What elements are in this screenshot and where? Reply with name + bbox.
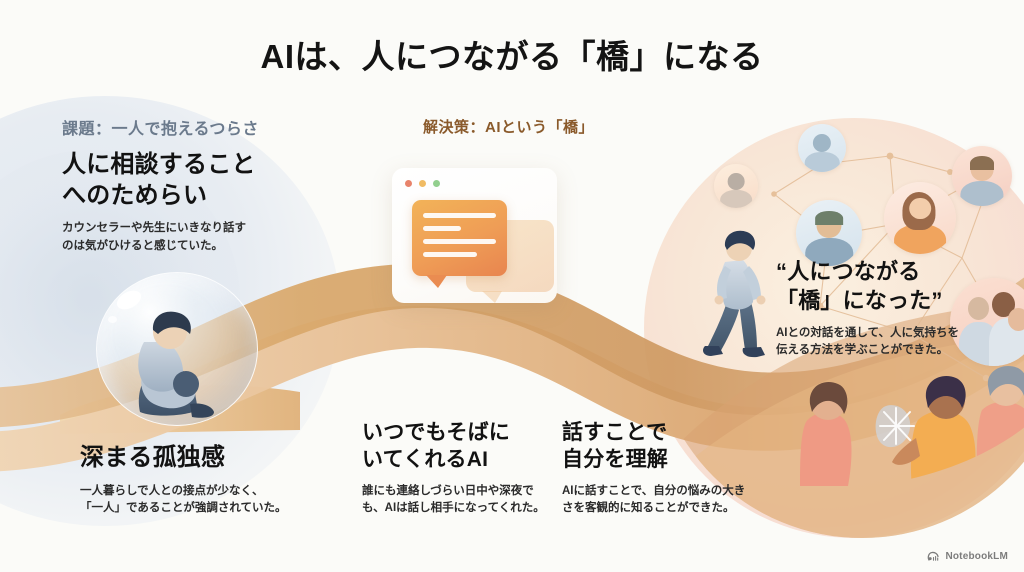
block-body: カウンセラーや先生にいきなり話す のは気がひけると感じていた。	[62, 220, 302, 255]
chat-bubble-primary-icon	[412, 200, 507, 276]
watermark: NotebookLM	[927, 551, 1008, 562]
window-traffic-lights	[405, 180, 440, 187]
block-heading: 話すことで 自分を理解	[562, 420, 757, 474]
block-body: AIに話すことで、自分の悩みの大き さを客観的に知ることができた。	[562, 483, 757, 518]
text-block-self-understanding: 話すことで 自分を理解 AIに話すことで、自分の悩みの大き さを客観的に知ること…	[562, 420, 757, 517]
maximize-dot-icon	[433, 180, 440, 187]
avatar-node	[796, 200, 862, 266]
text-block-always-there-ai: いつでもそばに いてくれるAI 誰にも連絡しづらい日中や深夜で も、AIは話し相…	[362, 420, 552, 517]
illustration-walking-person	[703, 228, 777, 368]
block-body: 誰にも連絡しづらい日中や深夜で も、AIは話し相手になってくれた。	[362, 483, 552, 518]
avatar-node	[952, 146, 1012, 206]
avatar-node	[884, 182, 956, 254]
illustration-people-group	[800, 360, 1024, 490]
block-heading: 深まる孤独感	[80, 443, 350, 474]
block-heading: いつでもそばに いてくれるAI	[362, 420, 552, 474]
quote-heading: “人につながる 「橋」になった”	[776, 258, 991, 315]
page-title: AIは、人につながる「橋」になる	[0, 30, 1024, 78]
section-label-problem: 課題：一人で抱えるつらさ	[62, 115, 259, 139]
section-label-solution: 解決策：AIという「橋」	[423, 116, 594, 137]
quote-body: AIとの対話を通して、人に気持ちを 伝える方法を学ぶことができた。	[776, 325, 991, 360]
text-block-quote: “人につながる 「橋」になった” AIとの対話を通して、人に気持ちを 伝える方法…	[776, 258, 991, 360]
close-dot-icon	[405, 180, 412, 187]
avatar-node	[798, 124, 846, 172]
text-block-loneliness: 深まる孤独感 一人暮らしで人との接点が少なく、 「一人」であることが強調されてい…	[80, 443, 350, 517]
chat-window-card	[392, 168, 557, 303]
watermark-label: NotebookLM	[945, 551, 1008, 562]
avatar-node	[714, 164, 758, 208]
slide-canvas: AIは、人につながる「橋」になる 課題：一人で抱えるつらさ 解決策：AIという「…	[0, 0, 1024, 572]
bubble-highlight-small	[108, 316, 117, 323]
text-block-hesitation: 人に相談すること へのためらい カウンセラーや先生にいきなり話す のは気がひける…	[62, 150, 302, 255]
notebooklm-logo-icon	[927, 551, 940, 562]
block-body: 一人暮らしで人との接点が少なく、 「一人」であることが強調されていた。	[80, 483, 350, 518]
chat-text-lines	[423, 213, 496, 265]
block-heading: 人に相談すること へのためらい	[62, 150, 302, 211]
illustration-isolated-person	[78, 272, 268, 432]
minimize-dot-icon	[419, 180, 426, 187]
